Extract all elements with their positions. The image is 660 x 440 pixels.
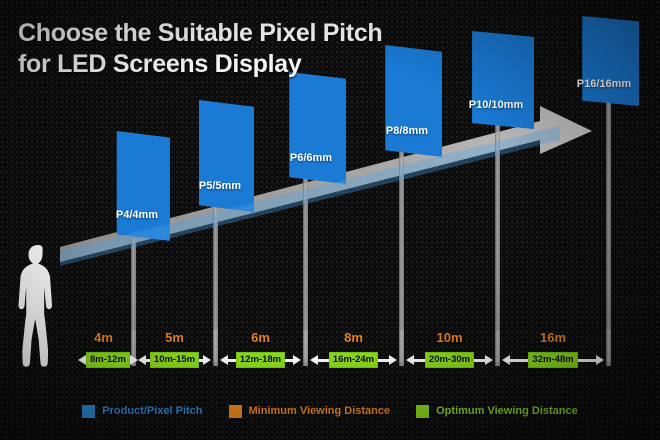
- viewing-range-label: 20m-30m: [425, 352, 474, 368]
- measure-segment-1: 4m 8m-12m: [76, 330, 131, 372]
- legend-swatch-blue: [82, 405, 95, 418]
- arrow-right-icon: [485, 355, 493, 365]
- infographic-canvas: P4/4mm P5/5mm P6/6mm P8/8mm P10/10mm P16…: [0, 0, 660, 440]
- distance-bar: 12m-18m: [220, 352, 301, 368]
- screen-panel: [280, 72, 346, 184]
- distance-bar: 32m-48m: [502, 352, 604, 368]
- pixel-pitch-label: 4m: [76, 330, 131, 345]
- legend-swatch-orange: [229, 405, 242, 418]
- screen-label: P5/5mm: [190, 180, 250, 192]
- arrow-left-icon: [220, 355, 228, 365]
- pixel-pitch-label: 10m: [404, 330, 495, 345]
- legend-item-minimum-viewing-distance: Minimum Viewing Distance: [229, 405, 391, 418]
- screen-label: P6/6mm: [280, 152, 342, 164]
- legend-item-product-pixel-pitch: Product/Pixel Pitch: [82, 405, 202, 418]
- measure-segment-3: 6m 12m-18m: [218, 330, 303, 372]
- screen-p16: P16/16mm: [573, 16, 639, 106]
- pole-5: [495, 122, 500, 362]
- screen-p6: P6/6mm: [280, 72, 346, 184]
- pixel-pitch-label: 5m: [136, 330, 213, 345]
- bar-line: [318, 359, 329, 362]
- screen-label: P10/10mm: [462, 99, 530, 111]
- arrow-left-icon: [502, 355, 510, 365]
- viewing-range-label: 8m-12m: [86, 352, 130, 368]
- screen-panel: [462, 31, 534, 129]
- distance-bar: 16m-24m: [310, 352, 397, 368]
- arrow-right-icon: [293, 355, 301, 365]
- legend-item-optimum-viewing-distance: Optimum Viewing Distance: [416, 405, 578, 418]
- arrow-right-icon: [596, 355, 604, 365]
- screen-label: P16/16mm: [573, 78, 635, 90]
- pixel-pitch-label: 16m: [500, 330, 606, 345]
- legend: Product/Pixel Pitch Minimum Viewing Dist…: [0, 398, 660, 424]
- arrow-left-icon: [310, 355, 318, 365]
- measurement-row: 4m 8m-12m 5m 10m-15m 6m: [0, 330, 660, 372]
- screen-panel: [573, 16, 639, 106]
- screen-p10: P10/10mm: [462, 31, 534, 129]
- arrow-right-icon: [389, 355, 397, 365]
- viewing-range-label: 10m-15m: [150, 352, 199, 368]
- arrow-left-icon: [78, 355, 86, 365]
- screen-label: P8/8mm: [376, 125, 438, 137]
- measure-segment-4: 8m 16m-24m: [308, 330, 399, 372]
- legend-swatch-green: [416, 405, 429, 418]
- bar-line: [474, 359, 485, 362]
- legend-label: Product/Pixel Pitch: [102, 405, 202, 417]
- viewing-range-label: 16m-24m: [329, 352, 378, 368]
- title-line-1: Choose the Suitable Pixel Pitch: [18, 18, 448, 49]
- page-title: Choose the Suitable Pixel Pitch for LED …: [18, 18, 448, 79]
- arrow-left-icon: [406, 355, 414, 365]
- screen-p4: P4/4mm: [108, 131, 170, 241]
- measure-segment-6: 16m 32m-48m: [500, 330, 606, 372]
- measure-segment-5: 10m 20m-30m: [404, 330, 495, 372]
- arrow-right-icon: [203, 355, 211, 365]
- screen-panel: [190, 100, 254, 212]
- bar-line: [414, 359, 425, 362]
- title-line-2: for LED Screens Display: [18, 49, 448, 80]
- pole-6: [606, 96, 611, 362]
- screen-panel: [108, 131, 170, 241]
- bar-line: [510, 359, 528, 362]
- screen-p5: P5/5mm: [190, 100, 254, 212]
- distance-bar: 8m-12m: [78, 352, 129, 368]
- bar-line: [378, 359, 389, 362]
- distance-bar: 10m-15m: [138, 352, 211, 368]
- viewing-range-label: 32m-48m: [528, 352, 577, 368]
- pixel-pitch-label: 6m: [218, 330, 303, 345]
- bar-line: [285, 359, 293, 362]
- viewing-range-label: 12m-18m: [236, 352, 285, 368]
- legend-label: Minimum Viewing Distance: [249, 405, 391, 417]
- legend-label: Optimum Viewing Distance: [436, 405, 578, 417]
- bar-line: [228, 359, 236, 362]
- screen-label: P4/4mm: [108, 209, 166, 221]
- distance-bar: 20m-30m: [406, 352, 493, 368]
- measure-segment-2: 5m 10m-15m: [136, 330, 213, 372]
- pixel-pitch-label: 8m: [308, 330, 399, 345]
- arrow-left-icon: [138, 355, 146, 365]
- bar-line: [578, 359, 596, 362]
